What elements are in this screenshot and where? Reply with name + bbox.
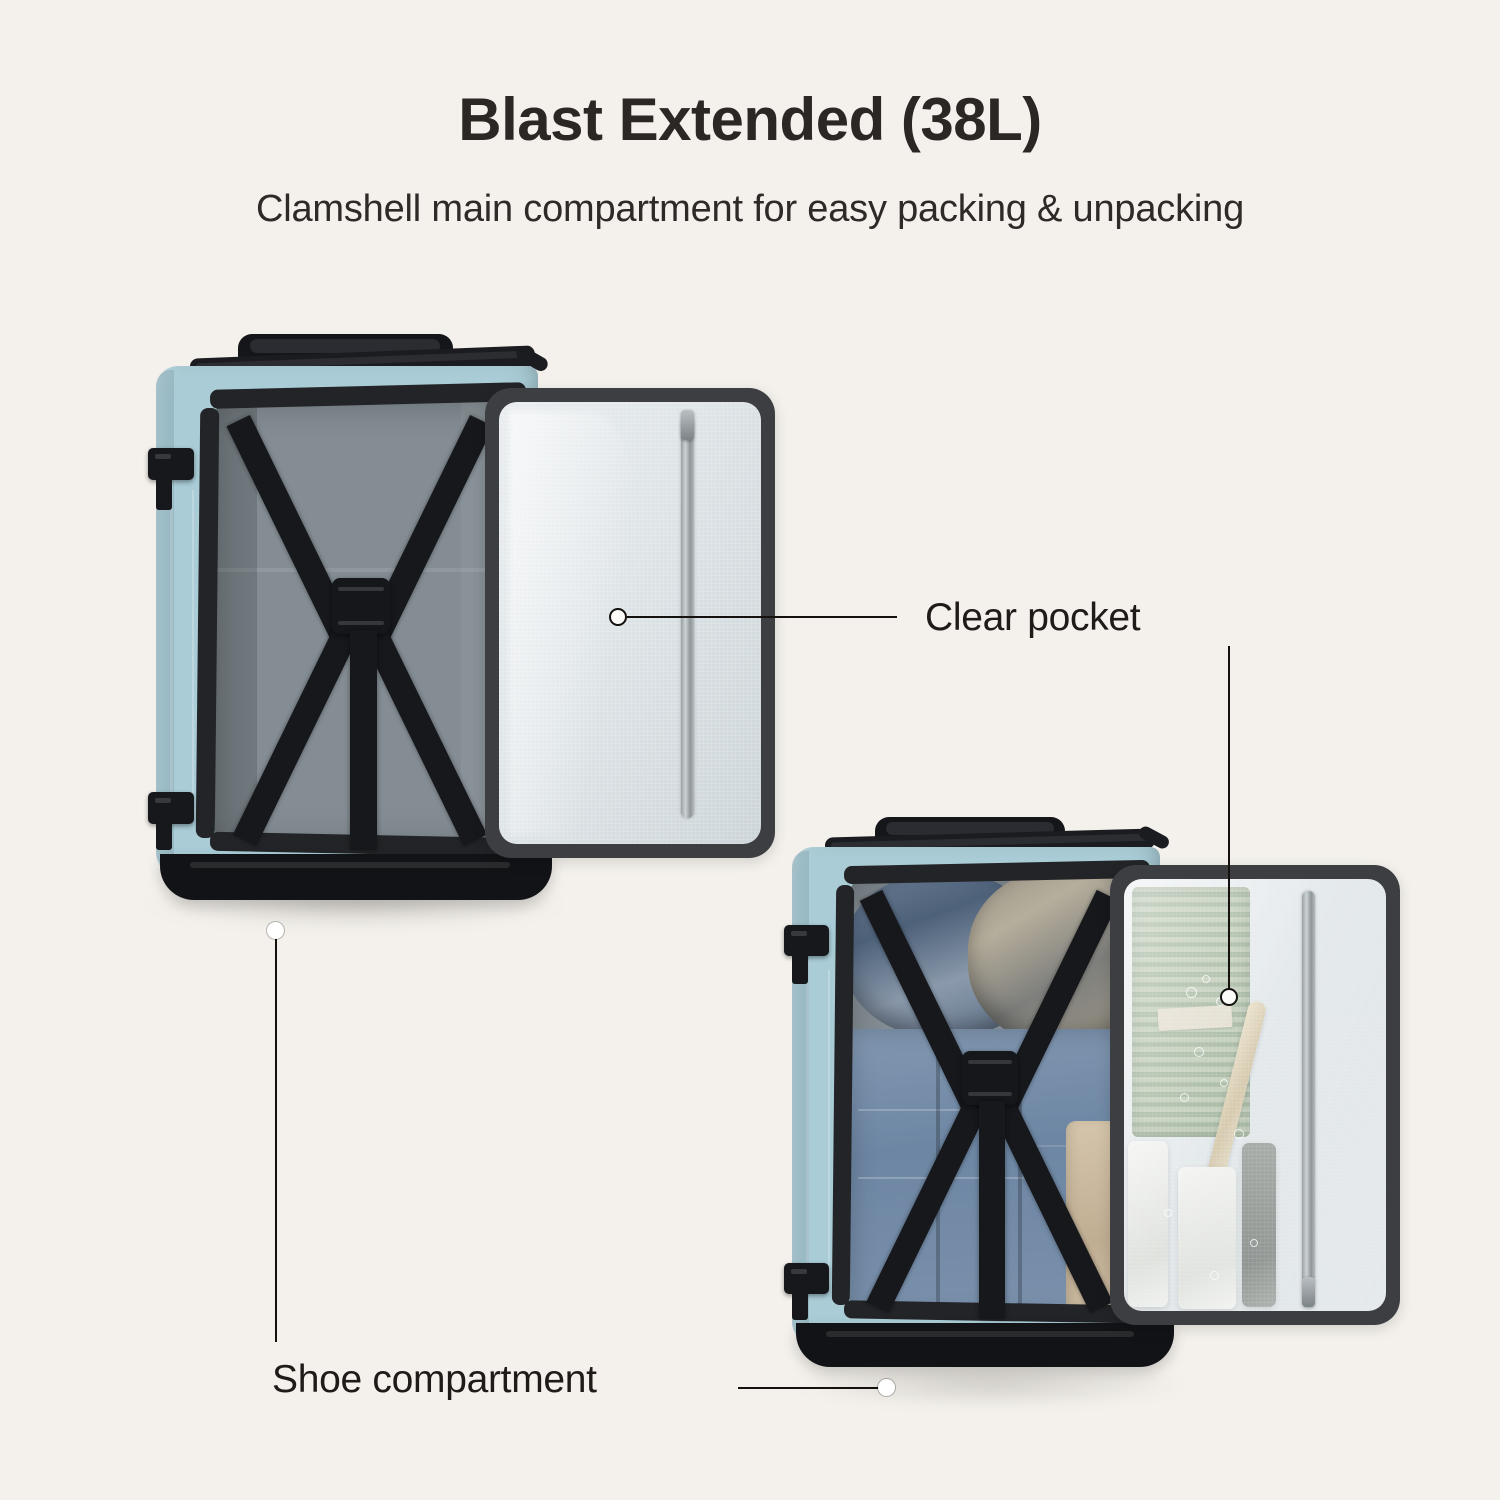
water-speck (1180, 1093, 1189, 1102)
clear-pocket-lid-2 (1110, 865, 1400, 1325)
water-speck (1164, 1209, 1172, 1217)
center-release-buckle[interactable] (332, 578, 390, 634)
strap-tail (350, 630, 377, 850)
side-buckle-top-2[interactable] (784, 925, 829, 956)
side-buckle-bottom-2[interactable] (784, 1263, 829, 1294)
water-speck (1202, 975, 1210, 983)
clear-pocket-panel-2 (1124, 879, 1386, 1311)
callout-label-clear-pocket: Clear pocket (925, 596, 1140, 640)
water-speck (1194, 1047, 1204, 1057)
water-speck (1250, 1239, 1258, 1247)
clear-pocket-lid (485, 388, 775, 858)
center-release-buckle-2[interactable] (962, 1051, 1018, 1105)
base-highlight-2 (826, 1331, 1134, 1337)
strap-tail-2 (979, 1101, 1005, 1319)
leader-line-clear-pocket (627, 616, 897, 618)
padded-base-2 (796, 1323, 1174, 1367)
water-speck (1234, 1129, 1244, 1139)
water-speck (1186, 987, 1197, 998)
marker-shoe-compartment-right (878, 1379, 895, 1396)
shell-seam-2 (192, 490, 194, 810)
leader-line-shoe-horizontal (738, 1387, 886, 1389)
marker-shoe-compartment-left (267, 922, 284, 939)
clear-pocket-zipper-pull[interactable] (681, 410, 694, 440)
page-title: Blast Extended (38L) (0, 85, 1500, 154)
side-buckle-bottom-strap-2 (792, 1290, 808, 1320)
clear-pocket-zipper-2[interactable] (1302, 891, 1315, 1283)
product-bag-empty (130, 330, 770, 940)
side-buckle-bottom-strap (156, 820, 172, 850)
clear-pocket-zipper[interactable] (681, 418, 694, 818)
clear-pocket-panel (499, 402, 761, 844)
drop-shadow-2 (790, 1360, 1190, 1408)
shell-seam-4 (828, 970, 830, 1282)
page-subtitle: Clamshell main compartment for easy pack… (0, 188, 1500, 231)
side-buckle-top-strap (156, 476, 172, 510)
callout-label-shoe-compartment: Shoe compartment (272, 1358, 597, 1402)
marker-clear-pocket-packed (1220, 988, 1238, 1006)
marker-clear-pocket-lid (609, 608, 627, 626)
leader-line-clear-pocket-vertical (1228, 646, 1230, 994)
panel-gloss (509, 411, 645, 835)
water-speck (1220, 1079, 1228, 1087)
side-buckle-bottom[interactable] (148, 792, 194, 824)
base-highlight (190, 862, 510, 868)
side-buckle-top[interactable] (148, 448, 194, 480)
clear-pocket-zipper-pull-2[interactable] (1302, 1277, 1315, 1307)
leader-line-shoe-vertical (275, 930, 277, 1342)
product-bag-packed (770, 815, 1410, 1415)
water-speck (1210, 1271, 1219, 1280)
side-buckle-top-strap-2 (792, 952, 808, 984)
infographic-canvas: Blast Extended (38L) Clamshell main comp… (0, 0, 1500, 1500)
padded-base (160, 854, 552, 900)
